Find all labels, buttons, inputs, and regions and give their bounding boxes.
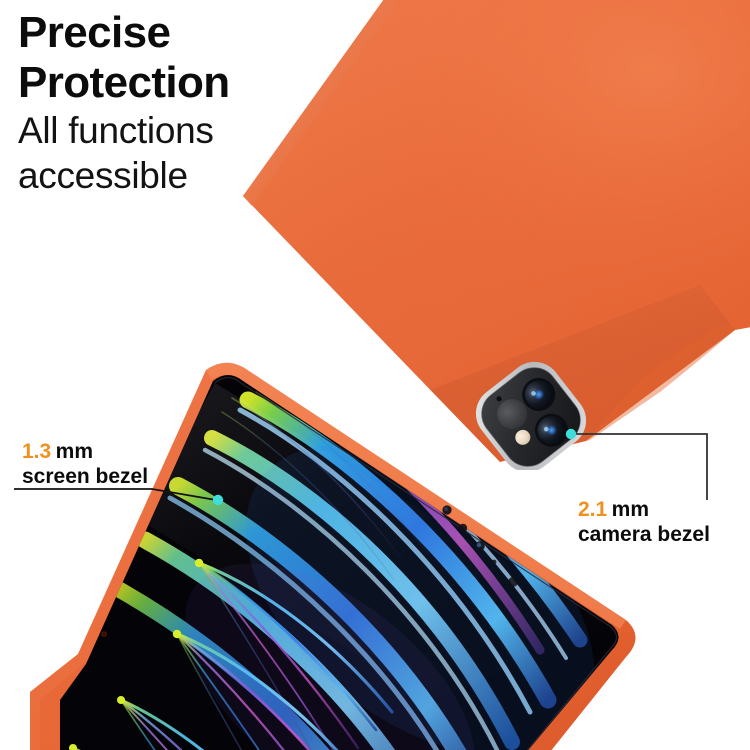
callout-camera-bezel: 2.1 mm camera bezel bbox=[578, 498, 710, 547]
callout-screen-value: 1.3 bbox=[22, 440, 51, 463]
proximity-sensor-icon bbox=[459, 524, 467, 532]
callout-screen-unit: mm bbox=[56, 440, 93, 463]
subhead-line-2: accessible bbox=[18, 153, 348, 198]
filament-tip-dot bbox=[195, 559, 203, 567]
headline-block: Precise Protection All functions accessi… bbox=[18, 8, 348, 198]
ambient-light-sensor-icon bbox=[492, 560, 497, 565]
callout-screen-description: screen bezel bbox=[22, 464, 148, 489]
callout-camera-value: 2.1 bbox=[578, 498, 607, 521]
filament-tip-dot bbox=[173, 630, 181, 638]
headline-line-1: Precise bbox=[18, 8, 348, 58]
callout-camera-description: camera bezel bbox=[578, 522, 710, 547]
callout-camera-unit: mm bbox=[612, 498, 649, 521]
subhead-line-1: All functions bbox=[18, 108, 348, 153]
flood-illuminator-icon bbox=[508, 577, 518, 587]
filament-tip-dot bbox=[117, 696, 125, 704]
product-feature-image: Precise Protection All functions accessi… bbox=[0, 0, 750, 750]
headline-line-2: Protection bbox=[18, 58, 348, 108]
tablet-microphone-hole bbox=[102, 632, 105, 635]
callout-screen-bezel: 1.3 mm screen bezel bbox=[22, 440, 148, 489]
tablet-front-illustration bbox=[0, 360, 680, 750]
